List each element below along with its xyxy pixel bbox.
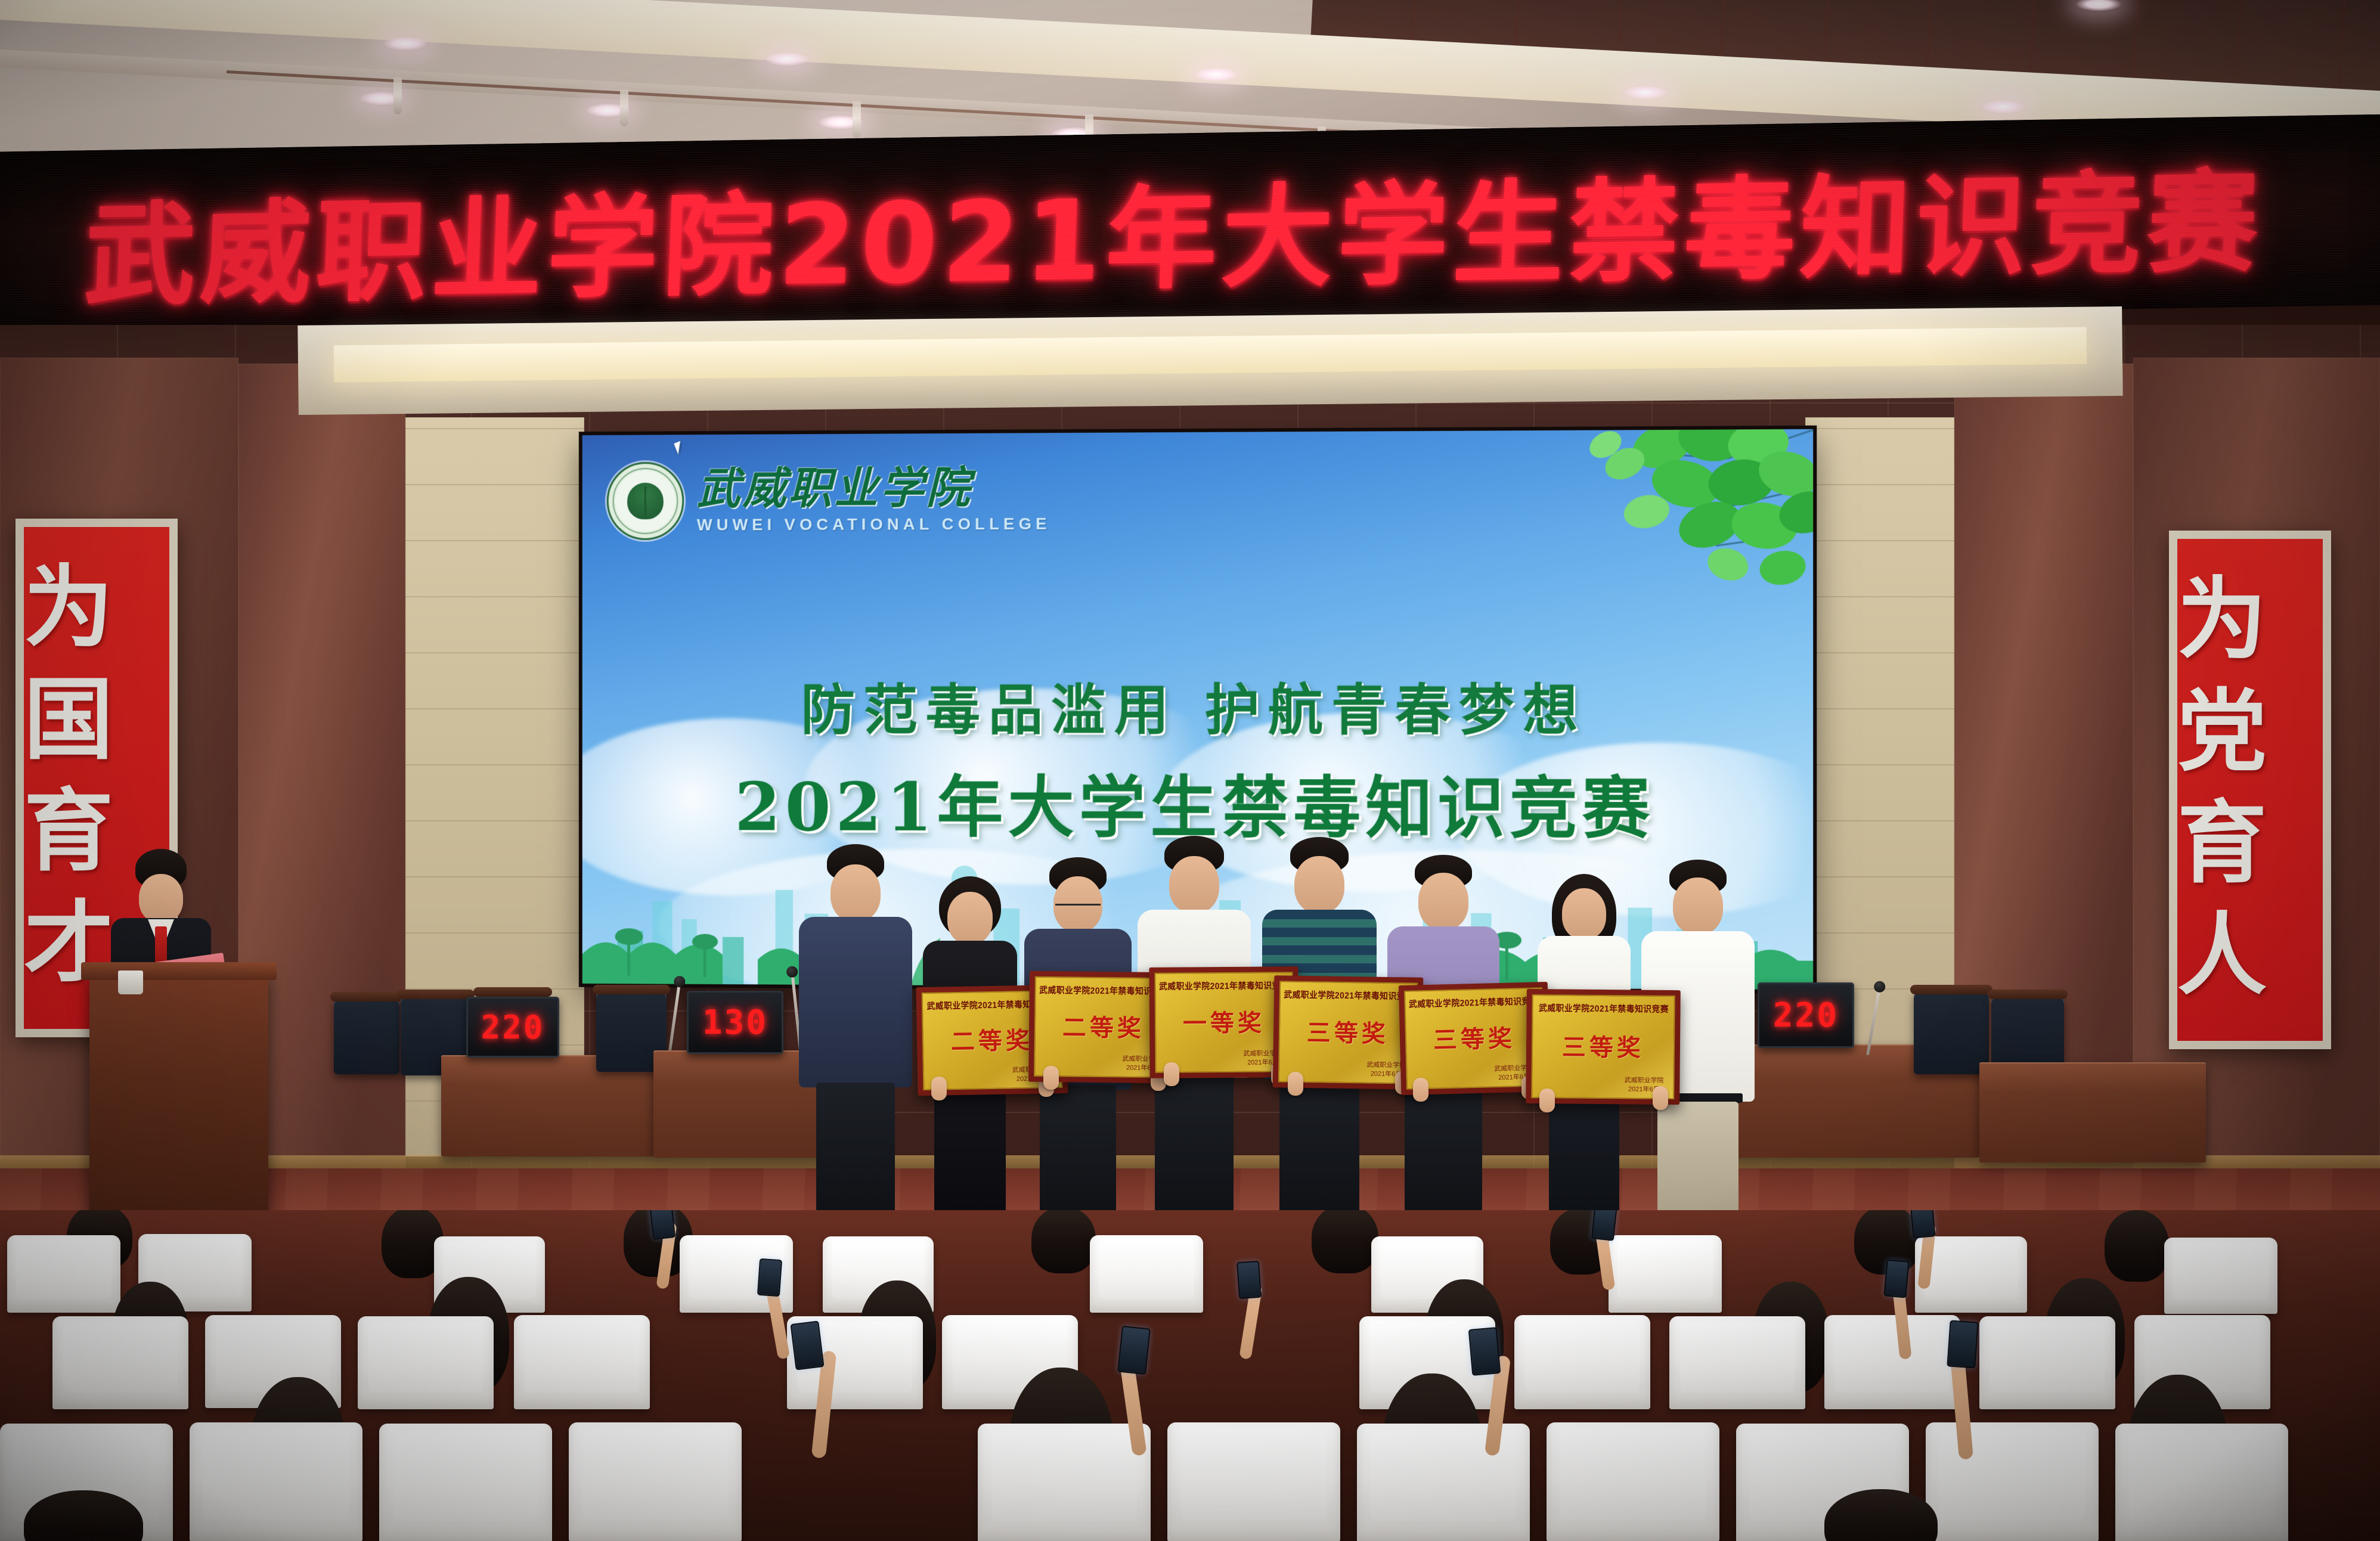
leaves-decoration-icon bbox=[1444, 429, 1813, 615]
audience-seat bbox=[514, 1315, 650, 1409]
college-logo: 武威职业学院 WUWEI VOCATIONAL COLLEGE bbox=[607, 460, 1051, 540]
auditorium-photo: 武威职业学院2021年大学生禁毒知识竞赛 为国育才 为党育人 bbox=[0, 0, 2380, 1541]
screen-slogan: 防范毒品滥用 护航青春梦想 bbox=[582, 665, 1813, 745]
smartphone[interactable] bbox=[1591, 1210, 1617, 1241]
audience-area bbox=[0, 1210, 2380, 1541]
audience-seat bbox=[7, 1235, 120, 1313]
audience-seat bbox=[1979, 1316, 2115, 1409]
stage-soffit bbox=[297, 306, 2122, 415]
audience-head bbox=[1312, 1210, 1378, 1273]
person-head bbox=[1294, 856, 1344, 913]
award-plaque-face: 武威职业学院2021年禁毒知识竞赛 三等奖 武威职业学院 2021年6月 bbox=[1531, 994, 1675, 1099]
plaque-footer-org: 武威职业学院 bbox=[1624, 1077, 1663, 1086]
audience-seat bbox=[1547, 1422, 1719, 1541]
hand-holding-plaque bbox=[1653, 1086, 1668, 1110]
ceiling-spotlight bbox=[763, 51, 811, 67]
soffit-light-strip bbox=[334, 327, 2087, 383]
contestant-desk bbox=[1979, 1062, 2206, 1162]
audience-seat bbox=[2164, 1238, 2277, 1314]
audience-seat bbox=[1824, 1315, 1960, 1409]
person-legs bbox=[1279, 1074, 1359, 1222]
host-head bbox=[139, 874, 183, 923]
person-shirt bbox=[799, 917, 912, 1087]
plaque-award-level: 二等奖 bbox=[950, 1021, 1033, 1056]
stage-chair bbox=[1914, 990, 1989, 1074]
hanging-lamp bbox=[393, 77, 402, 114]
smartphone[interactable] bbox=[790, 1320, 824, 1370]
smartphone[interactable] bbox=[1883, 1259, 1909, 1298]
college-name-cn: 武威职业学院 bbox=[697, 466, 1051, 511]
right-couplet: 为党育人 bbox=[2169, 531, 2331, 1049]
ceiling-spotlight bbox=[1622, 85, 1669, 100]
audience-seat bbox=[569, 1422, 742, 1541]
person-eyeglasses-icon bbox=[1055, 904, 1101, 913]
audience-seat bbox=[1167, 1422, 1340, 1541]
award-plaque-face: 武威职业学院2021年禁毒知识竞赛 三等奖 武威职业学院 2021年6月 bbox=[1278, 981, 1418, 1084]
person-legs bbox=[1405, 1084, 1482, 1222]
plaque-award-level: 三等奖 bbox=[1433, 1019, 1516, 1055]
audience-seat bbox=[1357, 1424, 1530, 1541]
hand-holding-plaque bbox=[1413, 1078, 1428, 1102]
score-value-left: 220 bbox=[481, 1009, 545, 1046]
smartphone[interactable] bbox=[1117, 1326, 1151, 1375]
score-display-left[interactable]: 220 bbox=[466, 997, 559, 1058]
hand-holding-plaque bbox=[931, 1077, 947, 1100]
stage-chair bbox=[334, 997, 399, 1074]
plaque-award-level: 三等奖 bbox=[1562, 1028, 1645, 1063]
person-head bbox=[1562, 888, 1606, 940]
score-value-right: 220 bbox=[1773, 996, 1839, 1035]
smartphone[interactable] bbox=[1947, 1320, 1978, 1368]
smartphone[interactable] bbox=[1468, 1327, 1501, 1376]
audience-seat bbox=[978, 1424, 1151, 1541]
audience-seat bbox=[1514, 1315, 1650, 1409]
person-legs bbox=[934, 1086, 1006, 1222]
right-couplet-text: 为党育人 bbox=[2177, 564, 2323, 1011]
audience-seat bbox=[358, 1316, 494, 1409]
audience-seat bbox=[52, 1316, 188, 1409]
mouse-cursor-icon bbox=[674, 441, 684, 455]
ceiling-spotlight bbox=[382, 36, 429, 51]
college-name-en: WUWEI VOCATIONAL COLLEGE bbox=[697, 514, 1051, 535]
plaque-award-level: 三等奖 bbox=[1307, 1013, 1390, 1049]
hand-holding-plaque bbox=[1164, 1062, 1179, 1086]
speaking-podium[interactable] bbox=[89, 972, 268, 1222]
smartphone[interactable] bbox=[757, 1258, 782, 1297]
audience-head bbox=[1031, 1210, 1096, 1273]
person-head bbox=[1418, 873, 1468, 930]
hand-holding-plaque bbox=[1043, 1066, 1059, 1090]
person-head bbox=[1169, 856, 1219, 913]
plaque-header: 武威职业学院2021年禁毒知识竞赛 bbox=[1159, 979, 1289, 993]
plaque-award-level: 一等奖 bbox=[1183, 1003, 1265, 1038]
ceiling-spotlight bbox=[1979, 99, 2027, 114]
audience-seat bbox=[190, 1422, 362, 1541]
stage-person bbox=[793, 844, 918, 1220]
smartphone[interactable] bbox=[1910, 1210, 1935, 1239]
hanging-lamp bbox=[853, 101, 861, 138]
person-legs bbox=[816, 1083, 895, 1220]
smartphone[interactable] bbox=[649, 1210, 675, 1240]
person-legs bbox=[1657, 1102, 1738, 1223]
score-display-center[interactable]: 130 bbox=[687, 991, 783, 1054]
score-display-right[interactable]: 220 bbox=[1758, 982, 1854, 1048]
hand-holding-plaque bbox=[1539, 1089, 1555, 1112]
plaque-header: 武威职业学院2021年禁毒知识竞赛 bbox=[1408, 994, 1538, 1010]
audience-seat bbox=[1090, 1235, 1203, 1313]
person-head bbox=[1673, 878, 1723, 935]
audience-seat bbox=[1926, 1422, 2099, 1541]
plaque-award-level: 二等奖 bbox=[1062, 1008, 1145, 1043]
award-plaque-face: 武威职业学院2021年禁毒知识竞赛 三等奖 武威职业学院 2021年6月 bbox=[1404, 987, 1545, 1090]
plaque-header: 武威职业学院2021年禁毒知识竞赛 bbox=[1539, 1002, 1669, 1015]
person-legs bbox=[1155, 1074, 1234, 1222]
led-banner-text: 武威职业学院2021年大学生禁毒知识竞赛 bbox=[82, 131, 2329, 327]
person-legs bbox=[1040, 1085, 1116, 1222]
audience-head bbox=[2105, 1210, 2169, 1282]
hanging-lamp bbox=[620, 89, 628, 126]
ceiling-spotlight bbox=[1192, 67, 1240, 82]
crest-ring bbox=[613, 468, 678, 534]
podium-top-surface bbox=[81, 962, 277, 980]
college-crest-icon bbox=[607, 462, 684, 540]
score-value-center: 130 bbox=[702, 1003, 768, 1042]
audience-seat bbox=[379, 1424, 552, 1541]
podium-water-cup bbox=[118, 971, 143, 994]
person-head bbox=[830, 864, 881, 922]
hand-holding-plaque bbox=[1288, 1072, 1303, 1096]
person-head bbox=[947, 892, 993, 944]
audience-seat bbox=[2115, 1424, 2288, 1541]
audience-seat bbox=[1609, 1235, 1722, 1313]
smartphone[interactable] bbox=[1237, 1261, 1262, 1299]
audience-seat bbox=[1669, 1316, 1805, 1409]
plaque-header: 武威职业学院2021年禁毒知识竞赛 bbox=[1284, 988, 1414, 1002]
right-couplet-panel: 为党育人 bbox=[2177, 539, 2323, 1041]
